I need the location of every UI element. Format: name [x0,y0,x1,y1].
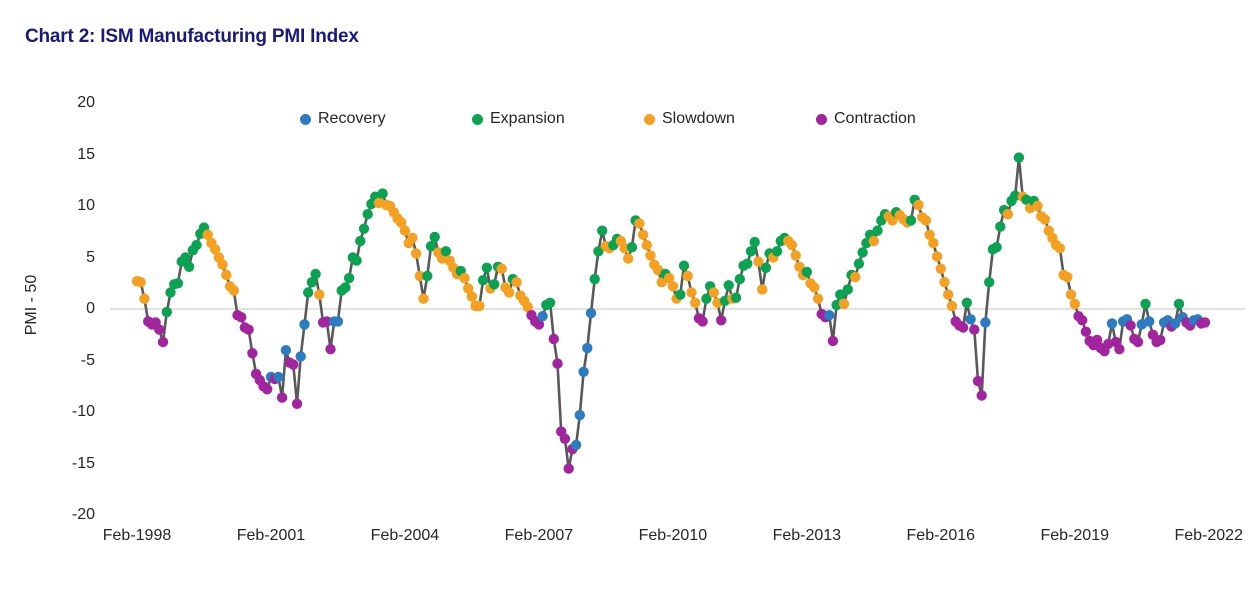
data-point-marker [549,334,559,344]
data-point-marker [683,271,693,281]
data-point-marker [1077,315,1087,325]
data-point-marker [1070,299,1080,309]
data-point-marker [724,280,734,290]
data-point-marker [482,263,492,273]
data-point-marker [984,277,994,287]
legend-item-contraction[interactable]: Contraction [816,110,988,128]
data-point-marker [333,316,343,326]
data-point-marker [1062,272,1072,282]
data-point-marker [634,218,644,228]
data-point-marker [418,294,428,304]
data-point-marker [474,301,484,311]
data-point-marker [314,289,324,299]
data-point-marker [292,399,302,409]
data-point-marker [1107,318,1117,328]
data-point-marker [932,251,942,261]
legend-label-slowdown: Slowdown [662,110,735,128]
data-point-marker [136,277,146,287]
data-point-marker [571,440,581,450]
data-point-marker [564,463,574,473]
data-point-marker [991,242,1001,252]
pmi-series-line [137,158,1205,469]
line-chart-svg [0,0,1257,613]
data-point-marker [560,434,570,444]
data-point-marker [1144,316,1154,326]
data-point-marker [243,324,253,334]
data-point-marker [325,344,335,354]
data-point-marker [217,260,227,270]
data-point-marker [1032,201,1042,211]
data-point-marker [913,200,923,210]
data-point-marker [787,240,797,250]
data-point-marker [504,287,514,297]
data-point-marker [497,264,507,274]
data-point-marker [441,246,451,256]
data-point-marker [355,236,365,246]
chart-plot-area: PMI - 50 20151050-5-10-15-20 Feb-1998Feb… [0,0,1257,613]
data-point-marker [623,253,633,263]
data-point-marker [921,215,931,225]
data-point-marker [668,281,678,291]
data-point-marker [236,312,246,322]
data-point-marker [344,273,354,283]
data-point-marker [1081,327,1091,337]
data-point-marker [340,282,350,292]
data-point-marker [675,289,685,299]
slowdown-dot-icon [644,114,655,125]
data-point-marker [191,240,201,250]
chart-legend: Recovery Expansion Slowdown Contraction [300,110,988,128]
data-point-marker [582,343,592,353]
data-point-marker [679,261,689,271]
data-point-marker [363,209,373,219]
data-point-marker [590,274,600,284]
data-point-marker [690,298,700,308]
data-point-marker [1055,243,1065,253]
data-point-marker [586,308,596,318]
data-point-marker [716,315,726,325]
data-point-marker [1155,335,1165,345]
data-point-marker [731,293,741,303]
data-point-marker [761,263,771,273]
data-point-marker [1140,299,1150,309]
data-point-marker [872,226,882,236]
data-point-marker [303,287,313,297]
data-point-marker [813,294,823,304]
data-point-marker [977,390,987,400]
data-point-marker [162,307,172,317]
data-point-marker [962,298,972,308]
data-point-marker [262,384,272,394]
data-point-marker [1014,152,1024,162]
data-point-marker [184,262,194,272]
data-point-marker [430,232,440,242]
pmi-series-markers [132,152,1210,473]
data-point-marker [947,301,957,311]
data-point-marker [277,392,287,402]
data-point-marker [757,284,767,294]
data-point-marker [969,324,979,334]
data-point-marker [802,267,812,277]
data-point-marker [869,236,879,246]
data-point-marker [857,247,867,257]
data-point-marker [299,319,309,329]
contraction-dot-icon [816,114,827,125]
data-point-marker [746,246,756,256]
data-point-marker [459,273,469,283]
legend-item-recovery[interactable]: Recovery [300,110,472,128]
recovery-dot-icon [300,114,311,125]
data-point-marker [281,345,291,355]
data-point-marker [709,287,719,297]
data-point-marker [221,270,231,280]
data-point-marker [478,275,488,285]
legend-item-expansion[interactable]: Expansion [472,110,644,128]
data-point-marker [1040,214,1050,224]
data-point-marker [645,250,655,260]
data-point-marker [1133,337,1143,347]
data-point-marker [296,351,306,361]
data-point-marker [411,248,421,258]
data-point-marker [467,291,477,301]
data-point-marker [139,294,149,304]
data-point-marker [597,226,607,236]
data-point-marker [1003,209,1013,219]
data-point-marker [686,287,696,297]
data-point-marker [229,285,239,295]
data-point-marker [377,188,387,198]
data-point-marker [1200,317,1210,327]
data-point-marker [359,224,369,234]
data-point-marker [288,359,298,369]
legend-label-expansion: Expansion [490,110,565,128]
data-point-marker [537,311,547,321]
data-point-marker [791,250,801,260]
data-point-marker [552,358,562,368]
data-point-marker [995,221,1005,231]
data-point-marker [939,277,949,287]
data-point-marker [273,372,283,382]
data-point-marker [928,238,938,248]
data-point-marker [973,376,983,386]
data-point-marker [642,240,652,250]
data-point-marker [943,289,953,299]
data-point-marker [965,314,975,324]
data-point-marker [750,237,760,247]
data-point-marker [1114,344,1124,354]
data-point-marker [936,264,946,274]
data-point-marker [158,337,168,347]
data-point-marker [575,410,585,420]
data-point-marker [638,230,648,240]
data-point-marker [824,310,834,320]
data-point-marker [839,299,849,309]
data-point-marker [173,278,183,288]
data-point-marker [742,259,752,269]
data-point-marker [735,274,745,284]
data-point-marker [809,282,819,292]
data-point-marker [351,255,361,265]
data-point-marker [407,233,417,243]
data-point-marker [400,226,410,236]
legend-label-contraction: Contraction [834,110,916,128]
data-point-marker [980,317,990,327]
data-point-marker [843,284,853,294]
data-point-marker [697,316,707,326]
data-point-marker [906,215,916,225]
data-point-marker [1125,320,1135,330]
data-point-marker [1174,299,1184,309]
data-point-marker [247,348,257,358]
data-point-marker [489,279,499,289]
data-point-marker [545,298,555,308]
data-point-marker [511,277,521,287]
data-point-marker [154,324,164,334]
legend-item-slowdown[interactable]: Slowdown [644,110,816,128]
data-point-marker [828,336,838,346]
data-point-marker [310,269,320,279]
data-point-marker [958,322,968,332]
data-point-marker [772,246,782,256]
data-point-marker [850,272,860,282]
legend-label-recovery: Recovery [318,110,386,128]
expansion-dot-icon [472,114,483,125]
data-point-marker [422,271,432,281]
data-point-marker [578,367,588,377]
data-point-marker [627,242,637,252]
data-point-marker [1066,289,1076,299]
data-point-marker [854,259,864,269]
